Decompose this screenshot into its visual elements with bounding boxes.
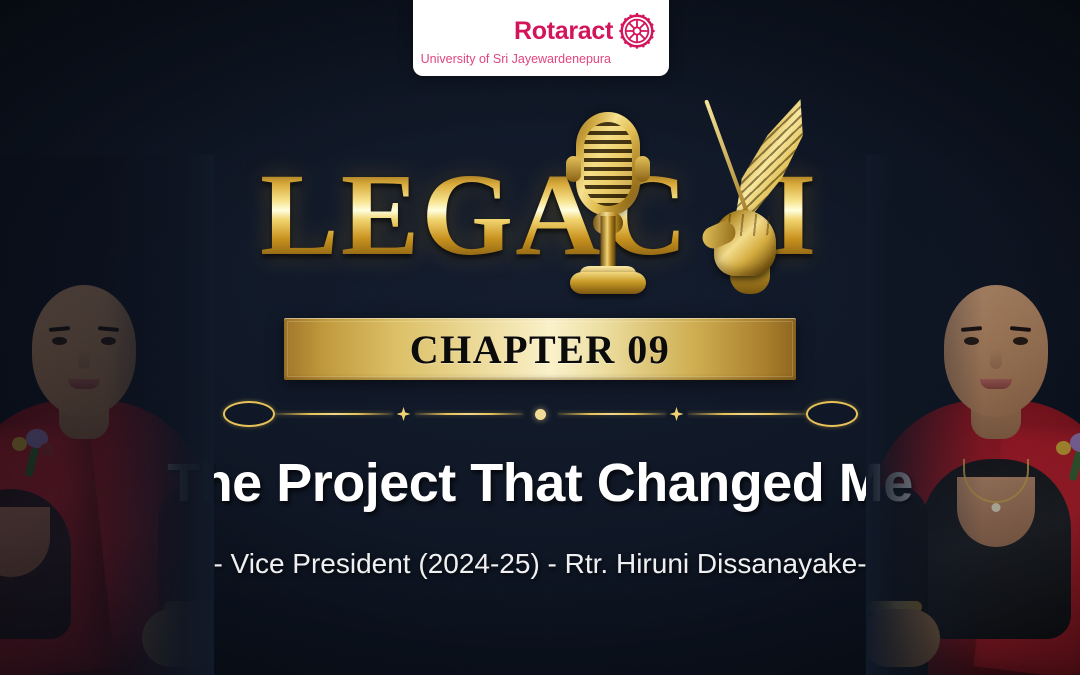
rotaract-brand-label: Rotaract — [514, 19, 613, 44]
divider-line — [688, 413, 806, 415]
dot-ornament-icon — [535, 409, 546, 420]
poster-canvas: Rotaract — [0, 0, 1080, 675]
leaf-ornament-icon — [806, 401, 858, 427]
microphone-icon — [560, 112, 656, 294]
rotaract-wordmark-row: Rotaract — [413, 13, 655, 49]
chapter-banner-label: CHAPTER 09 — [410, 326, 671, 373]
diamond-ornament-icon — [670, 407, 684, 421]
divider-line — [415, 413, 523, 415]
leaf-ornament-icon — [223, 401, 275, 427]
hand-icon — [700, 198, 786, 290]
speaker-portrait-right — [866, 155, 1080, 675]
rotary-wheel-icon — [619, 13, 655, 49]
rotaract-logo-card: Rotaract — [413, 0, 669, 76]
quill-pen-icon — [692, 94, 822, 294]
speaker-portrait-left — [0, 155, 214, 675]
divider-line — [275, 413, 393, 415]
rotaract-club-label: University of Sri Jayewardenepura — [413, 52, 655, 66]
diamond-ornament-icon — [397, 407, 411, 421]
divider-line — [558, 413, 666, 415]
